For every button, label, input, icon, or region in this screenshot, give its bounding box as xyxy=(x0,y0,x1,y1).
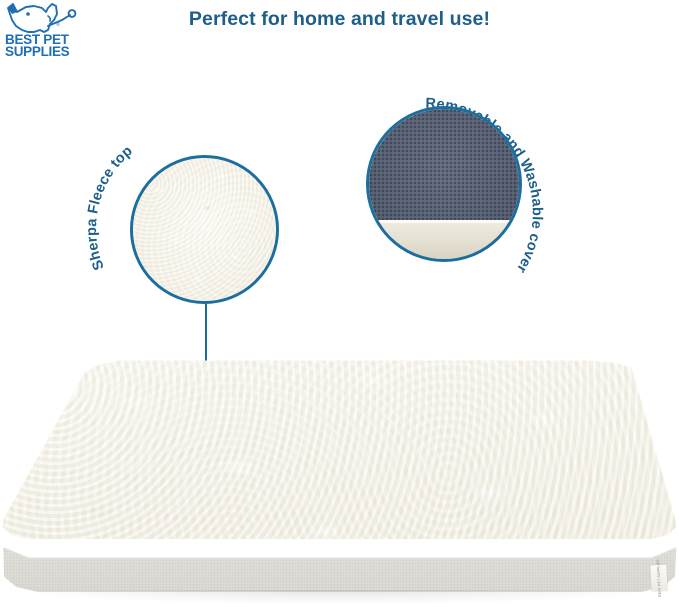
dog-bed-product-image xyxy=(0,355,679,607)
callout-ring-left xyxy=(130,155,279,304)
brand-wordmark-line2: SUPPLIES xyxy=(5,44,70,59)
bed-sherpa-top-surface xyxy=(0,355,679,570)
callout-sherpa-fleece-top xyxy=(130,155,279,304)
callout-label-sherpa-text: Sherpa Fleece top xyxy=(84,143,136,272)
callout-removable-washable-cover xyxy=(366,106,522,262)
bed-drop-shadow xyxy=(22,590,652,604)
fleece-swatch-image xyxy=(133,158,276,301)
product-infographic: ® BEST PET SUPPLIES Perfect for home and… xyxy=(0,0,679,607)
headline-text: Perfect for home and travel use! xyxy=(0,8,679,31)
foam-layer-image xyxy=(369,220,519,259)
bed-brand-tag: BEST PET SUPPLIES xyxy=(650,565,667,592)
callout-ring-right xyxy=(366,106,522,262)
bed-brand-tag-text: BEST PET SUPPLIES xyxy=(656,559,662,597)
